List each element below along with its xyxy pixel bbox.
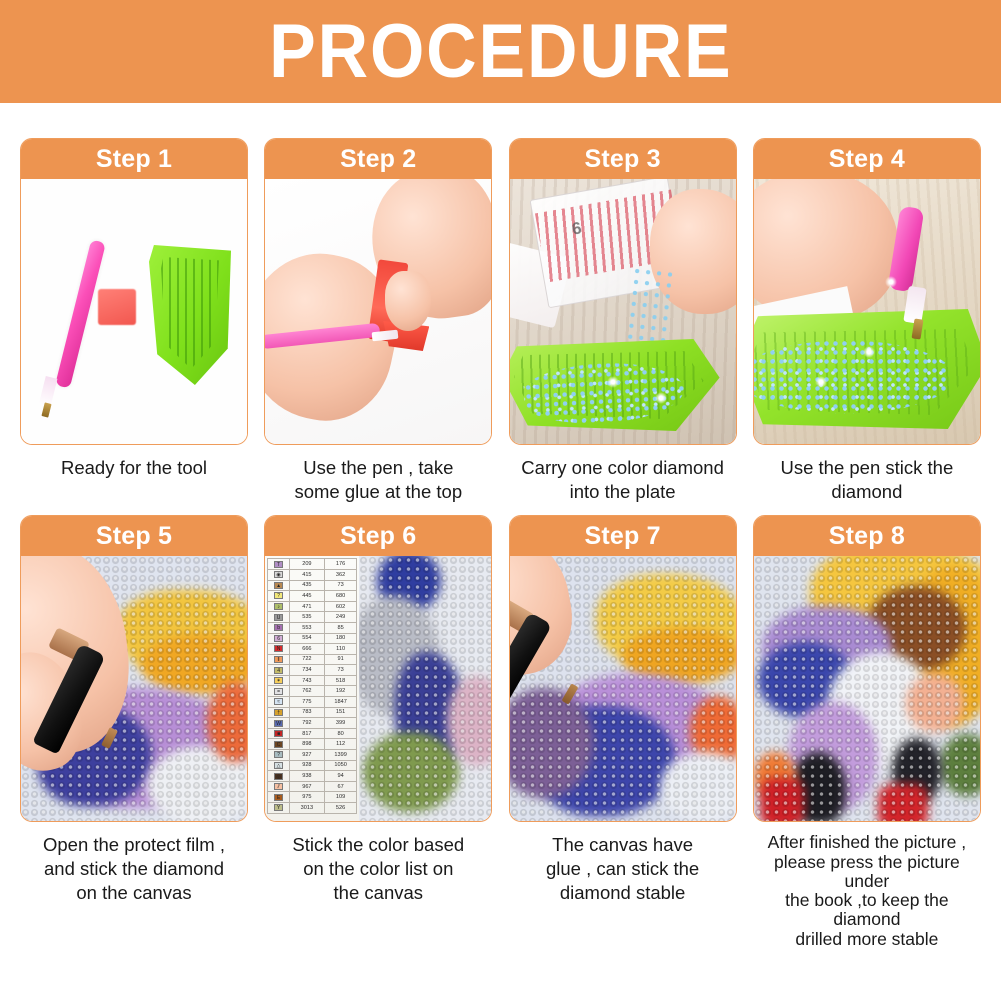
color-symbol-cell: 4 bbox=[268, 665, 290, 676]
diamond-bead-texture bbox=[359, 556, 491, 821]
step-header-3: Step 3 bbox=[510, 139, 736, 179]
step-card-4: Step 4 bbox=[753, 138, 981, 445]
color-symbol-cell: ▲ bbox=[268, 580, 290, 591]
color-swatch-icon: ▲ bbox=[274, 582, 283, 589]
bead-count-cell: 176 bbox=[324, 559, 356, 570]
step-cell-5: Step 5 bbox=[20, 515, 248, 949]
bead-count-cell: 680 bbox=[324, 591, 356, 602]
sparkle-icon bbox=[606, 375, 620, 389]
color-chart-sheet: T209176◉415362▲43573?445680♪471602U53524… bbox=[265, 556, 359, 821]
thumb bbox=[385, 271, 431, 331]
bead-count-cell: 80 bbox=[324, 728, 356, 739]
color-swatch-icon: ♪ bbox=[274, 603, 283, 610]
step-image-2 bbox=[265, 179, 491, 444]
color-chart-row: ◎93894 bbox=[268, 771, 357, 782]
dmc-code-cell: 743 bbox=[289, 675, 324, 686]
color-chart-table: T209176◉415362▲43573?445680♪471602U53524… bbox=[267, 558, 357, 813]
color-symbol-cell: ≈ bbox=[268, 697, 290, 708]
color-chart-row: ♪471602 bbox=[268, 601, 357, 612]
tools-photo bbox=[21, 179, 247, 444]
pick-diamond-photo bbox=[754, 179, 980, 444]
page-title: PROCEDURE bbox=[269, 14, 732, 90]
glue-square-icon bbox=[98, 289, 136, 325]
color-symbol-cell: ✶ bbox=[268, 675, 290, 686]
step-header-6: Step 6 bbox=[265, 516, 491, 556]
step-cell-6: Step 6 T209176◉41536 bbox=[264, 515, 492, 949]
dmc-code-cell: 762 bbox=[289, 686, 324, 697]
bead-count-cell: 73 bbox=[324, 665, 356, 676]
color-symbol-cell: U bbox=[268, 612, 290, 623]
procedure-infographic: PROCEDURE Step 1 Rea bbox=[0, 0, 1001, 1001]
dmc-code-cell: 553 bbox=[289, 622, 324, 633]
dmc-code-cell: 928 bbox=[289, 760, 324, 771]
color-swatch-icon: b bbox=[274, 624, 283, 631]
step-cell-4: Step 4 bbox=[753, 138, 981, 503]
color-symbol-cell: N bbox=[268, 644, 290, 655]
falling-diamonds bbox=[624, 265, 674, 349]
color-swatch-icon: ? bbox=[274, 592, 283, 599]
dmc-code-cell: 775 bbox=[289, 697, 324, 708]
bead-count-cell: 180 bbox=[324, 633, 356, 644]
color-swatch-icon: 4 bbox=[274, 667, 283, 674]
color-chart-row: ⫽96767 bbox=[268, 781, 357, 792]
bead-count-cell: 91 bbox=[324, 654, 356, 665]
bead-count-cell: 73 bbox=[324, 580, 356, 591]
color-symbol-cell: ? bbox=[268, 750, 290, 761]
color-swatch-icon: T bbox=[274, 561, 283, 568]
step-header-7: Step 7 bbox=[510, 516, 736, 556]
color-symbol-cell: 6 bbox=[268, 633, 290, 644]
step-cell-7: Step 7 bbox=[509, 515, 737, 949]
color-swatch-icon: † bbox=[274, 709, 283, 716]
dmc-code-cell: 792 bbox=[289, 718, 324, 729]
color-symbol-cell: ⫽ bbox=[268, 781, 290, 792]
color-swatch-icon: △ bbox=[274, 762, 283, 769]
step-image-6: T209176◉415362▲43573?445680♪471602U53524… bbox=[265, 556, 491, 821]
color-chart-row: N666110 bbox=[268, 644, 357, 655]
color-chart-row: ◉415362 bbox=[268, 569, 357, 580]
bead-count-cell: 602 bbox=[324, 601, 356, 612]
step-image-5 bbox=[21, 556, 247, 821]
bead-count-cell: 362 bbox=[324, 569, 356, 580]
step-header-1: Step 1 bbox=[21, 139, 247, 179]
color-chart-row: ✶743518 bbox=[268, 675, 357, 686]
color-symbol-cell: W bbox=[268, 718, 290, 729]
step-card-8: Step 8 bbox=[753, 515, 981, 822]
color-chart-row: Y3013526 bbox=[268, 803, 357, 814]
step-card-2: Step 2 bbox=[264, 138, 492, 445]
color-swatch-icon: W bbox=[274, 720, 283, 727]
color-chart-row: ?9271399 bbox=[268, 750, 357, 761]
stick-diamond-photo bbox=[21, 556, 247, 821]
step-card-3: Step 3 6 bbox=[509, 138, 737, 445]
step-caption-1: Ready for the tool bbox=[20, 456, 248, 480]
bead-count-cell: 110 bbox=[324, 644, 356, 655]
step-image-3: 6 bbox=[510, 179, 736, 444]
color-chart-row: △9281050 bbox=[268, 760, 357, 771]
color-chart-row: U535249 bbox=[268, 612, 357, 623]
bead-count-cell: 1050 bbox=[324, 760, 356, 771]
color-chart-row: b55385 bbox=[268, 622, 357, 633]
step-caption-7: The canvas have glue , can stick the dia… bbox=[509, 833, 737, 904]
bead-count-cell: 249 bbox=[324, 612, 356, 623]
bead-count-cell: 109 bbox=[324, 792, 356, 803]
color-symbol-cell: E bbox=[268, 792, 290, 803]
sparkle-icon bbox=[814, 375, 828, 389]
color-chart-row: ▲43573 bbox=[268, 580, 357, 591]
color-swatch-icon: Y bbox=[274, 804, 283, 811]
color-swatch-icon: = bbox=[274, 688, 283, 695]
bead-count-cell: 1399 bbox=[324, 750, 356, 761]
dmc-code-cell: 783 bbox=[289, 707, 324, 718]
color-swatch-icon: U bbox=[274, 614, 283, 621]
color-chart-row: 473473 bbox=[268, 665, 357, 676]
page-banner: PROCEDURE bbox=[0, 0, 1001, 103]
color-swatch-icon: E bbox=[274, 794, 283, 801]
dmc-code-cell: 734 bbox=[289, 665, 324, 676]
step-caption-4: Use the pen stick the diamond bbox=[753, 456, 981, 503]
color-swatch-icon: ‖ bbox=[274, 656, 283, 663]
bead-count-cell: 67 bbox=[324, 781, 356, 792]
bead-count-cell: 1847 bbox=[324, 697, 356, 708]
dmc-code-cell: 471 bbox=[289, 601, 324, 612]
color-symbol-cell: = bbox=[268, 686, 290, 697]
color-symbol-cell: ■ bbox=[268, 728, 290, 739]
dmc-code-cell: 898 bbox=[289, 739, 324, 750]
glue-photo bbox=[265, 179, 491, 444]
press-diamond-photo bbox=[510, 556, 736, 821]
bead-count-cell: 85 bbox=[324, 622, 356, 633]
step-cell-8: Step 8 bbox=[753, 515, 981, 949]
step-image-1 bbox=[21, 179, 247, 444]
step-card-1: Step 1 bbox=[20, 138, 248, 445]
step-header-4: Step 4 bbox=[754, 139, 980, 179]
sparkle-icon bbox=[884, 275, 898, 289]
finished-picture-photo bbox=[754, 556, 980, 821]
dmc-code-cell: 209 bbox=[289, 559, 324, 570]
color-chart-row: W792399 bbox=[268, 718, 357, 729]
dmc-code-cell: 975 bbox=[289, 792, 324, 803]
step-image-8 bbox=[754, 556, 980, 821]
color-swatch-icon: C bbox=[274, 741, 283, 748]
step-caption-2: Use the pen , take some glue at the top bbox=[264, 456, 492, 503]
color-chart-row: ≈7751847 bbox=[268, 697, 357, 708]
color-swatch-icon: ◉ bbox=[274, 571, 283, 578]
color-chart-body: T209176◉415362▲43573?445680♪471602U53524… bbox=[268, 559, 357, 813]
dmc-code-cell: 927 bbox=[289, 750, 324, 761]
bead-count-cell: 526 bbox=[324, 803, 356, 814]
color-symbol-cell: ◎ bbox=[268, 771, 290, 782]
color-symbol-cell: † bbox=[268, 707, 290, 718]
color-symbol-cell: ♪ bbox=[268, 601, 290, 612]
color-swatch-icon: ✶ bbox=[274, 677, 283, 684]
color-chart-row: ■81780 bbox=[268, 728, 357, 739]
color-swatch-icon: ◎ bbox=[274, 773, 283, 780]
step-card-7: Step 7 bbox=[509, 515, 737, 822]
color-symbol-cell: Y bbox=[268, 803, 290, 814]
color-swatch-icon: 6 bbox=[274, 635, 283, 642]
step-caption-3: Carry one color diamond into the plate bbox=[509, 456, 737, 503]
diamond-bead-texture bbox=[754, 556, 980, 821]
dmc-code-cell: 415 bbox=[289, 569, 324, 580]
color-chart-row: =762192 bbox=[268, 686, 357, 697]
color-swatch-icon: ⫽ bbox=[274, 783, 283, 790]
color-swatch-icon: ? bbox=[274, 751, 283, 758]
dmc-code-cell: 535 bbox=[289, 612, 324, 623]
color-symbol-cell: C bbox=[268, 739, 290, 750]
color-symbol-cell: ‖ bbox=[268, 654, 290, 665]
dmc-code-cell: 435 bbox=[289, 580, 324, 591]
dmc-code-cell: 817 bbox=[289, 728, 324, 739]
dmc-code-cell: 554 bbox=[289, 633, 324, 644]
step-caption-8: After finished the picture , please pres… bbox=[753, 833, 981, 949]
step-caption-5: Open the protect film , and stick the di… bbox=[20, 833, 248, 904]
partial-canvas bbox=[359, 556, 491, 821]
step-card-5: Step 5 bbox=[20, 515, 248, 822]
bead-count-cell: 399 bbox=[324, 718, 356, 729]
color-swatch-icon: ■ bbox=[274, 730, 283, 737]
sparkle-icon bbox=[862, 345, 876, 359]
dmc-code-cell: 445 bbox=[289, 591, 324, 602]
step-header-8: Step 8 bbox=[754, 516, 980, 556]
step-image-7 bbox=[510, 556, 736, 821]
step-header-2: Step 2 bbox=[265, 139, 491, 179]
bead-count-cell: 192 bbox=[324, 686, 356, 697]
color-chart-row: ‖72291 bbox=[268, 654, 357, 665]
color-symbol-cell: T bbox=[268, 559, 290, 570]
step-cell-1: Step 1 Ready for the tool bbox=[20, 138, 248, 503]
bead-count-cell: 151 bbox=[324, 707, 356, 718]
bead-count-cell: 94 bbox=[324, 771, 356, 782]
color-chart-row: 6554180 bbox=[268, 633, 357, 644]
sparkle-icon bbox=[654, 391, 668, 405]
color-chart-row: T209176 bbox=[268, 559, 357, 570]
pour-diamonds-photo: 6 bbox=[510, 179, 736, 444]
color-swatch-icon: ≈ bbox=[274, 698, 283, 705]
step-image-4 bbox=[754, 179, 980, 444]
color-chart-row: †783151 bbox=[268, 707, 357, 718]
color-symbol-cell: ? bbox=[268, 591, 290, 602]
step-caption-6: Stick the color based on the color list … bbox=[264, 833, 492, 904]
color-chart-row: E975109 bbox=[268, 792, 357, 803]
step-card-6: Step 6 T209176◉41536 bbox=[264, 515, 492, 822]
dmc-code-cell: 666 bbox=[289, 644, 324, 655]
dmc-code-cell: 938 bbox=[289, 771, 324, 782]
bead-count-cell: 112 bbox=[324, 739, 356, 750]
steps-grid: Step 1 Ready for the tool bbox=[20, 138, 981, 949]
color-chart-row: ?445680 bbox=[268, 591, 357, 602]
color-chart-row: C898112 bbox=[268, 739, 357, 750]
color-symbol-cell: △ bbox=[268, 760, 290, 771]
bead-count-cell: 518 bbox=[324, 675, 356, 686]
step-cell-2: Step 2 Use the pen , take some glue at t… bbox=[264, 138, 492, 503]
dmc-code-cell: 3013 bbox=[289, 803, 324, 814]
color-symbol-cell: b bbox=[268, 622, 290, 633]
dmc-code-cell: 722 bbox=[289, 654, 324, 665]
step-header-5: Step 5 bbox=[21, 516, 247, 556]
color-symbol-cell: ◉ bbox=[268, 569, 290, 580]
dmc-code-cell: 967 bbox=[289, 781, 324, 792]
color-swatch-icon: N bbox=[274, 645, 283, 652]
color-chart-photo: T209176◉415362▲43573?445680♪471602U53524… bbox=[265, 556, 491, 821]
step-cell-3: Step 3 6 bbox=[509, 138, 737, 503]
